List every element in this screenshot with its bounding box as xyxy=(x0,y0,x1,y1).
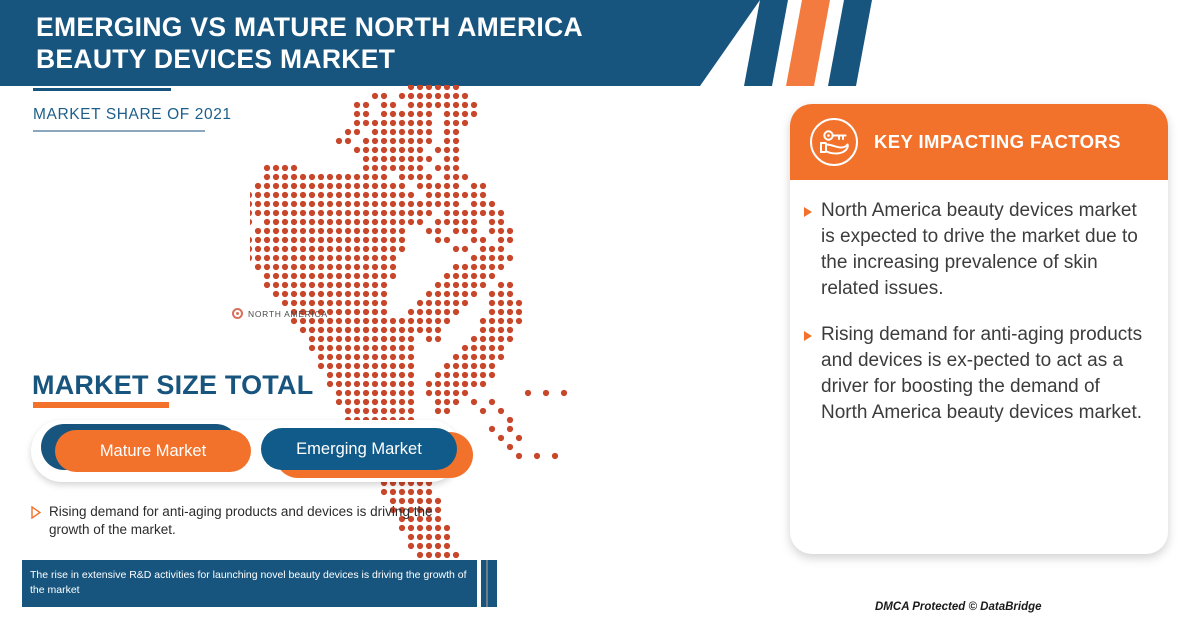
footer-accent-line xyxy=(486,560,488,607)
triangle-bullet-icon xyxy=(804,207,812,217)
footer-accent-tab xyxy=(481,560,497,607)
market-size-bullet: Rising demand for anti-aging products an… xyxy=(31,503,476,539)
panel-bullet-2: Rising demand for anti-aging products an… xyxy=(804,322,1148,426)
key-impacting-factors-panel: KEY IMPACTING FACTORS North America beau… xyxy=(790,104,1168,554)
footer-text: The rise in extensive R&D activities for… xyxy=(30,568,470,598)
panel-body: North America beauty devices market is e… xyxy=(790,180,1168,446)
map-legend: NORTH AMERICA xyxy=(232,308,328,319)
market-size-underline xyxy=(33,402,169,408)
pill-emerging-label: Emerging Market xyxy=(261,428,457,470)
map-marker-icon xyxy=(232,308,243,319)
market-size-bullet-text: Rising demand for anti-aging products an… xyxy=(49,503,476,539)
infographic-canvas: EMERGING VS MATURE NORTH AMERICA BEAUTY … xyxy=(0,0,1200,618)
panel-bullet-2-text: Rising demand for anti-aging products an… xyxy=(821,322,1148,426)
triangle-bullet-icon xyxy=(31,506,41,519)
triangle-bullet-icon xyxy=(804,331,812,341)
page-title: EMERGING VS MATURE NORTH AMERICA BEAUTY … xyxy=(36,11,676,75)
hand-holding-key-icon xyxy=(808,116,860,168)
header-stripe-orange xyxy=(786,0,830,86)
market-pill-tray: Mature Market Emerging Market xyxy=(31,420,461,482)
pill-emerging-market[interactable]: Emerging Market xyxy=(253,428,465,474)
panel-title: KEY IMPACTING FACTORS xyxy=(874,131,1121,153)
panel-header: KEY IMPACTING FACTORS xyxy=(790,104,1168,180)
map-legend-label: NORTH AMERICA xyxy=(248,309,328,319)
dmca-credit: DMCA Protected © DataBridge xyxy=(875,601,1042,613)
panel-bullet-1-text: North America beauty devices market is e… xyxy=(821,198,1148,302)
header-stripe-blue-2 xyxy=(828,0,872,86)
market-share-rule-bottom xyxy=(33,130,205,132)
panel-bullet-1: North America beauty devices market is e… xyxy=(804,198,1148,302)
pill-mature-market[interactable]: Mature Market xyxy=(41,428,253,474)
footer-bar: The rise in extensive R&D activities for… xyxy=(22,560,477,607)
market-share-label: MARKET SHARE OF 2021 xyxy=(33,106,232,124)
market-size-title: MARKET SIZE TOTAL xyxy=(32,370,313,401)
pill-mature-label: Mature Market xyxy=(55,430,251,472)
market-share-rule-top xyxy=(33,88,171,91)
